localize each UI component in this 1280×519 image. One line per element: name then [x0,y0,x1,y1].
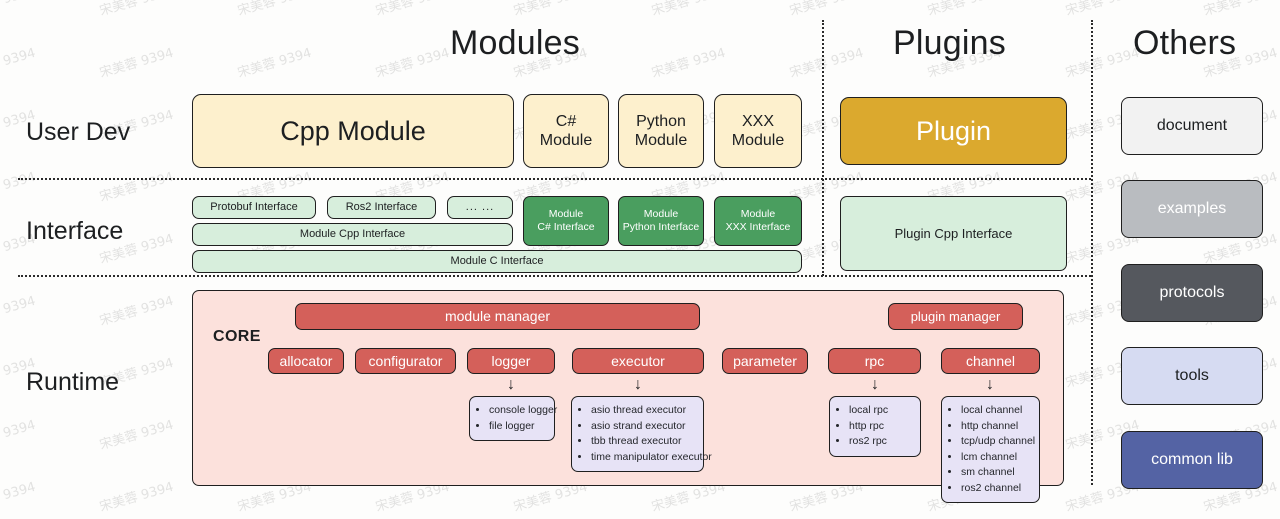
arrow-down-icon-logger: ↓ [504,376,518,394]
watermark-text: 宋美蓉 9394 [97,166,176,205]
list-item: tcp/udp channel [961,434,1030,450]
watermark-text: 宋美蓉 9394 [511,0,590,19]
column-title-modules: Modules [450,24,580,63]
box-plugin-cpp-interface[interactable]: Plugin Cpp Interface [840,196,1067,271]
watermark-text: 宋美蓉 9394 [1063,0,1142,19]
list-logger-implementations: console loggerfile logger [469,396,555,441]
box-common-lib[interactable]: common lib [1121,431,1263,489]
watermark-text: 宋美蓉 9394 [787,0,866,19]
box-ros2-interface[interactable]: Ros2 Interface [327,196,436,219]
box-examples[interactable]: examples [1121,180,1263,238]
watermark-text: 宋美蓉 9394 [97,290,176,329]
list-item: console logger [489,403,545,419]
box-module-python-interface[interactable]: ModulePython Interface [618,196,704,246]
box-protobuf-interface[interactable]: Protobuf Interface [192,196,316,219]
box-module-cpp-interface[interactable]: Module Cpp Interface [192,223,513,246]
watermark-text: 宋美蓉 9394 [0,166,37,205]
box-parameter[interactable]: parameter [722,348,808,374]
box-protocols[interactable]: protocols [1121,264,1263,322]
watermark-text: 宋美蓉 9394 [1063,42,1142,81]
box-tools[interactable]: tools [1121,347,1263,405]
arrow-down-icon-rpc: ↓ [868,376,882,394]
watermark-text: 宋美蓉 9394 [373,0,452,19]
divider-modules-plugins [822,20,824,276]
watermark-text: 宋美蓉 9394 [0,414,37,453]
watermark-text: 宋美蓉 9394 [97,42,176,81]
box-module-xxx-interface[interactable]: ModuleXXX Interface [714,196,802,246]
list-item: ros2 channel [961,481,1030,497]
watermark-text: 宋美蓉 9394 [97,476,176,515]
watermark-text: 宋美蓉 9394 [649,42,728,81]
watermark-text: 宋美蓉 9394 [97,0,176,19]
list-item: time manipulator executor [591,450,694,466]
box-more-interfaces[interactable]: ... ... [447,196,513,219]
watermark-text: 宋美蓉 9394 [925,0,1004,19]
row-label-interface: Interface [26,217,123,246]
list-item: lcm channel [961,450,1030,466]
box-cs-module[interactable]: C#Module [523,94,609,168]
list-item: http channel [961,419,1030,435]
watermark-text: 宋美蓉 9394 [373,42,452,81]
list-channel-implementations: local channelhttp channeltcp/udp channel… [941,396,1040,503]
box-allocator[interactable]: allocator [268,348,344,374]
watermark-text: 宋美蓉 9394 [649,0,728,19]
list-item: http rpc [849,419,911,435]
box-executor[interactable]: executor [572,348,704,374]
watermark-text: 宋美蓉 9394 [235,42,314,81]
watermark-text: 宋美蓉 9394 [787,42,866,81]
box-module-cs-interface[interactable]: ModuleC# Interface [523,196,609,246]
divider-plugins-others [1091,20,1093,485]
divider-user-dev-interface [18,178,1091,180]
column-title-others: Others [1133,24,1236,63]
box-document[interactable]: document [1121,97,1263,155]
box-configurator[interactable]: configurator [355,348,456,374]
box-plugin[interactable]: Plugin [840,97,1067,165]
architecture-diagram: 宋美蓉 9394宋美蓉 9394宋美蓉 9394宋美蓉 9394宋美蓉 9394… [0,0,1280,519]
box-module-manager[interactable]: module manager [295,303,700,330]
box-xxx-module[interactable]: XXXModule [714,94,802,168]
list-executor-implementations: asio thread executorasio strand executor… [571,396,704,472]
box-module-c-interface[interactable]: Module C Interface [192,250,802,273]
box-logger[interactable]: logger [467,348,555,374]
watermark-text: 宋美蓉 9394 [1201,0,1280,19]
watermark-text: 宋美蓉 9394 [97,414,176,453]
list-item: local channel [961,403,1030,419]
box-python-module[interactable]: PythonModule [618,94,704,168]
list-item: asio thread executor [591,403,694,419]
box-cpp-module[interactable]: Cpp Module [192,94,514,168]
list-item: tbb thread executor [591,434,694,450]
row-label-user-dev: User Dev [26,118,130,147]
list-item: file logger [489,419,545,435]
watermark-text: 宋美蓉 9394 [0,42,37,81]
watermark-text: 宋美蓉 9394 [235,0,314,19]
list-item: sm channel [961,465,1030,481]
list-item: ros2 rpc [849,434,911,450]
column-title-plugins: Plugins [893,24,1006,63]
watermark-text: 宋美蓉 9394 [0,290,37,329]
list-item: asio strand executor [591,419,694,435]
arrow-down-icon-executor: ↓ [631,376,645,394]
box-rpc[interactable]: rpc [828,348,921,374]
divider-interface-runtime [18,275,1091,277]
box-channel[interactable]: channel [941,348,1040,374]
arrow-down-icon-channel: ↓ [983,376,997,394]
watermark-text: 宋美蓉 9394 [0,476,37,515]
row-label-runtime: Runtime [26,368,119,397]
watermark-text: 宋美蓉 9394 [0,0,37,19]
list-item: local rpc [849,403,911,419]
list-rpc-implementations: local rpchttp rpcros2 rpc [829,396,921,457]
box-plugin-manager[interactable]: plugin manager [888,303,1023,330]
core-label: CORE [213,328,261,346]
